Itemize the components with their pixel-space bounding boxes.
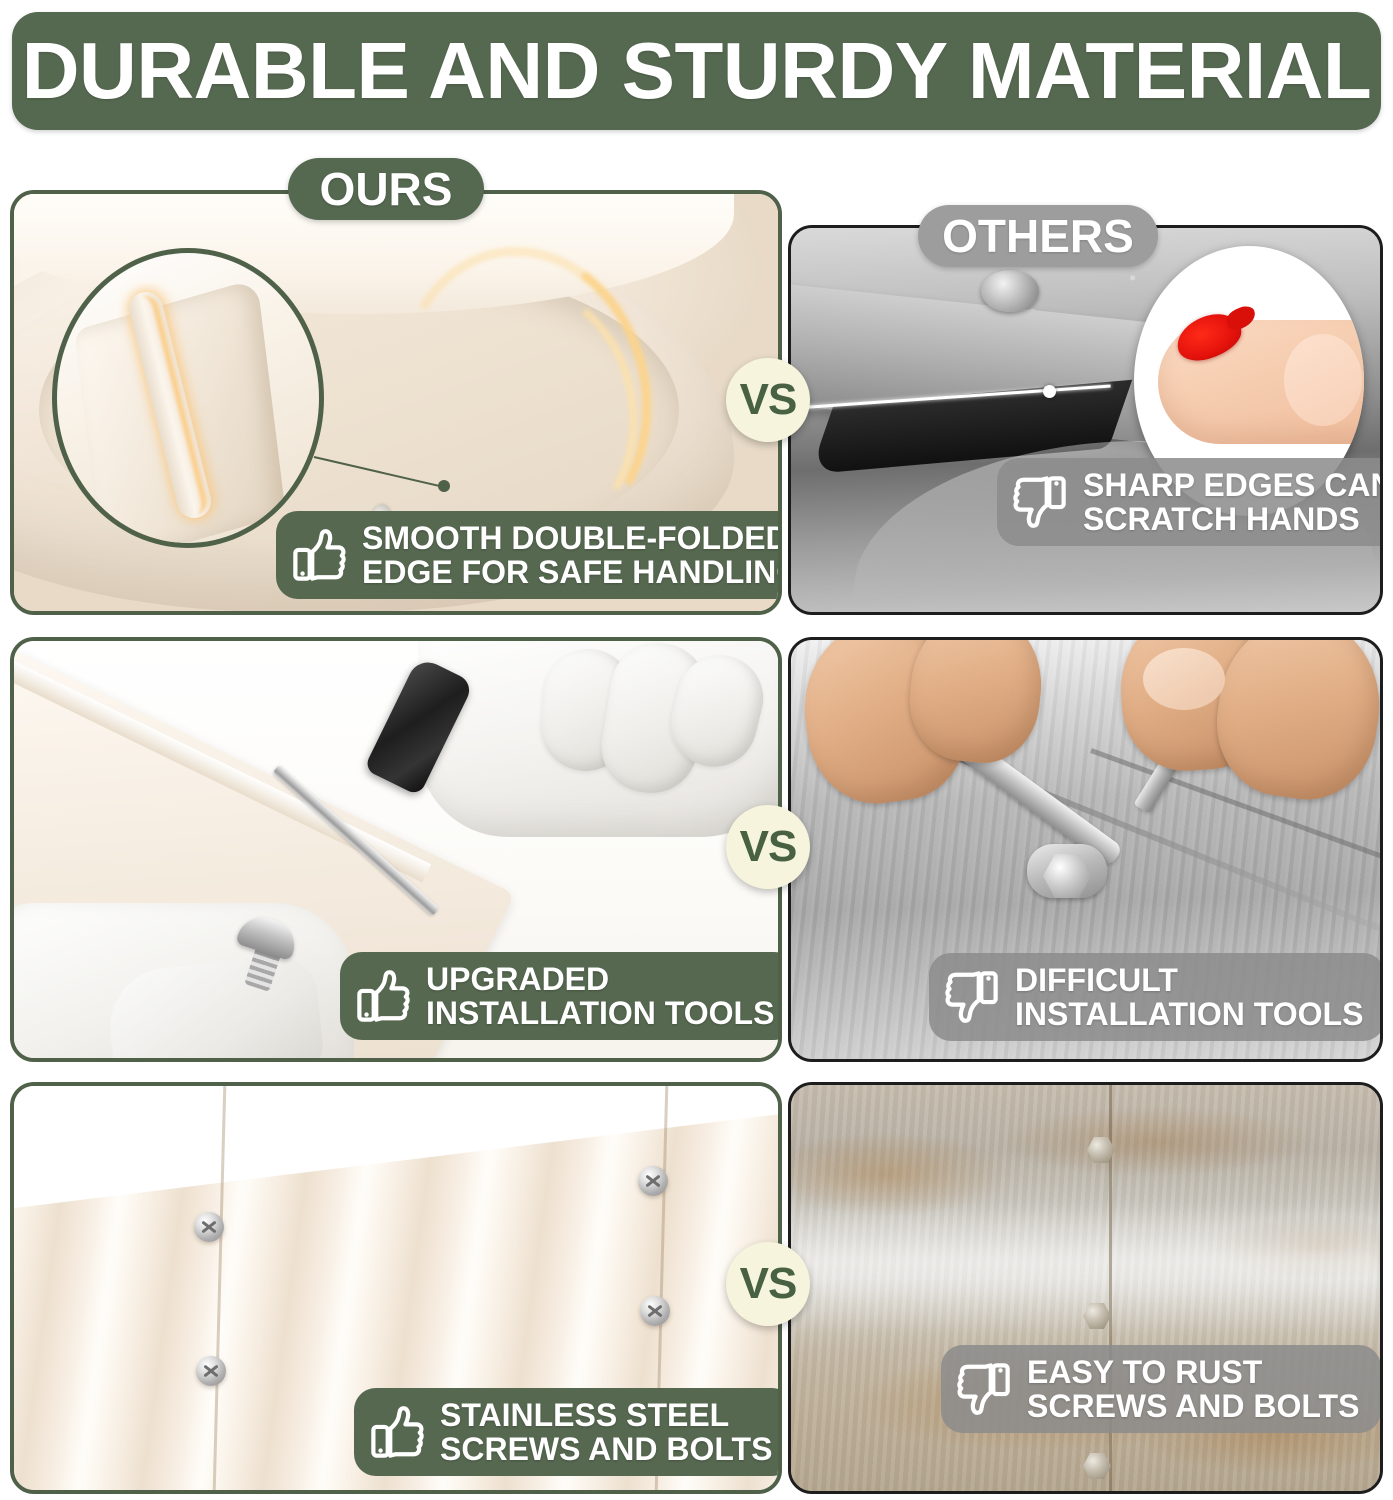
magnifier-callout-circle	[52, 248, 324, 548]
panel-others-row-2: DIFFICULT INSTALLATION TOOLS	[788, 637, 1383, 1062]
comparison-row-3: STAINLESS STEEL SCREWS AND BOLTS	[0, 1082, 1393, 1494]
badge-others-label: OTHERS	[942, 213, 1134, 259]
caption-line-2: SCREWS AND BOLTS	[440, 1432, 772, 1466]
caption-line-2: INSTALLATION TOOLS	[426, 996, 774, 1030]
caption-ours-row-3: STAINLESS STEEL SCREWS AND BOLTS	[354, 1388, 782, 1476]
callout-leader-dot	[1043, 385, 1056, 398]
badge-ours: OURS	[288, 158, 484, 220]
header-banner: DURABLE AND STURDY MATERIAL	[12, 12, 1381, 130]
caption-ours-row-2-text: UPGRADED INSTALLATION TOOLS	[426, 962, 774, 1030]
screw-head	[981, 270, 1039, 312]
stainless-screw	[194, 1212, 224, 1242]
caption-ours-row-1-text: SMOOTH DOUBLE-FOLDED EDGE FOR SAFE HANDL…	[362, 521, 782, 589]
vs-badge-row-2: VS	[726, 805, 810, 889]
caption-line-2: SCREWS AND BOLTS	[1027, 1389, 1359, 1423]
badge-ours-label: OURS	[320, 166, 453, 212]
stainless-screw	[638, 1166, 668, 1196]
thumbs-up-icon	[356, 969, 410, 1023]
fingernail	[1284, 334, 1362, 426]
fingernail	[1143, 648, 1225, 710]
caption-others-row-2: DIFFICULT INSTALLATION TOOLS	[929, 953, 1383, 1041]
caption-others-row-3: EASY TO RUST SCREWS AND BOLTS	[941, 1345, 1381, 1433]
caption-ours-row-1: SMOOTH DOUBLE-FOLDED EDGE FOR SAFE HANDL…	[276, 511, 782, 599]
caption-line-2: EDGE FOR SAFE HANDLING	[362, 555, 782, 589]
caption-line-1: DIFFICULT	[1015, 963, 1363, 997]
caption-line-1: SMOOTH DOUBLE-FOLDED	[362, 521, 782, 555]
caption-line-2: INSTALLATION TOOLS	[1015, 997, 1363, 1031]
page-title: DURABLE AND STURDY MATERIAL	[22, 31, 1371, 111]
callout-leader-dot	[438, 480, 450, 492]
vs-badge-row-1: VS	[726, 358, 810, 442]
stainless-screw	[196, 1356, 226, 1386]
caption-ours-row-3-text: STAINLESS STEEL SCREWS AND BOLTS	[440, 1398, 772, 1466]
comparison-row-1: SMOOTH DOUBLE-FOLDED EDGE FOR SAFE HANDL…	[0, 190, 1393, 615]
caption-others-row-2-text: DIFFICULT INSTALLATION TOOLS	[1015, 963, 1363, 1031]
comparison-infographic: DURABLE AND STURDY MATERIAL OURS OTHERS	[0, 0, 1393, 1500]
thumbs-up-icon	[292, 528, 346, 582]
caption-line-1: SHARP EDGES CAN	[1083, 468, 1383, 502]
caption-ours-row-2: UPGRADED INSTALLATION TOOLS	[340, 952, 782, 1040]
badge-others: OTHERS	[918, 205, 1158, 267]
caption-others-row-1-text: SHARP EDGES CAN SCRATCH HANDS	[1083, 468, 1383, 536]
panel-ours-row-3: STAINLESS STEEL SCREWS AND BOLTS	[10, 1082, 782, 1494]
vs-badge-row-3: VS	[726, 1242, 810, 1326]
panel-ours-row-2: UPGRADED INSTALLATION TOOLS	[10, 637, 782, 1062]
vs-label: VS	[740, 378, 797, 422]
vs-label: VS	[740, 825, 797, 869]
thumbs-up-icon	[370, 1405, 424, 1459]
caption-line-1: UPGRADED	[426, 962, 774, 996]
caption-others-row-1: SHARP EDGES CAN SCRATCH HANDS	[997, 458, 1383, 546]
photo-sharp-edge	[791, 228, 1380, 612]
vs-label: VS	[740, 1262, 797, 1306]
panel-others-row-3: EASY TO RUST SCREWS AND BOLTS	[788, 1082, 1383, 1494]
panel-others-row-1: SHARP EDGES CAN SCRATCH HANDS	[788, 225, 1383, 615]
thumbs-down-icon	[957, 1362, 1011, 1416]
caption-line-1: STAINLESS STEEL	[440, 1398, 772, 1432]
panel-ours-row-1: SMOOTH DOUBLE-FOLDED EDGE FOR SAFE HANDL…	[10, 190, 782, 615]
caption-line-1: EASY TO RUST	[1027, 1355, 1359, 1389]
comparison-row-2: UPGRADED INSTALLATION TOOLS	[0, 637, 1393, 1062]
thumbs-down-icon	[1013, 475, 1067, 529]
caption-others-row-3-text: EASY TO RUST SCREWS AND BOLTS	[1027, 1355, 1359, 1423]
caption-line-2: SCRATCH HANDS	[1083, 502, 1383, 536]
stainless-screw	[640, 1296, 670, 1326]
thumbs-down-icon	[945, 970, 999, 1024]
